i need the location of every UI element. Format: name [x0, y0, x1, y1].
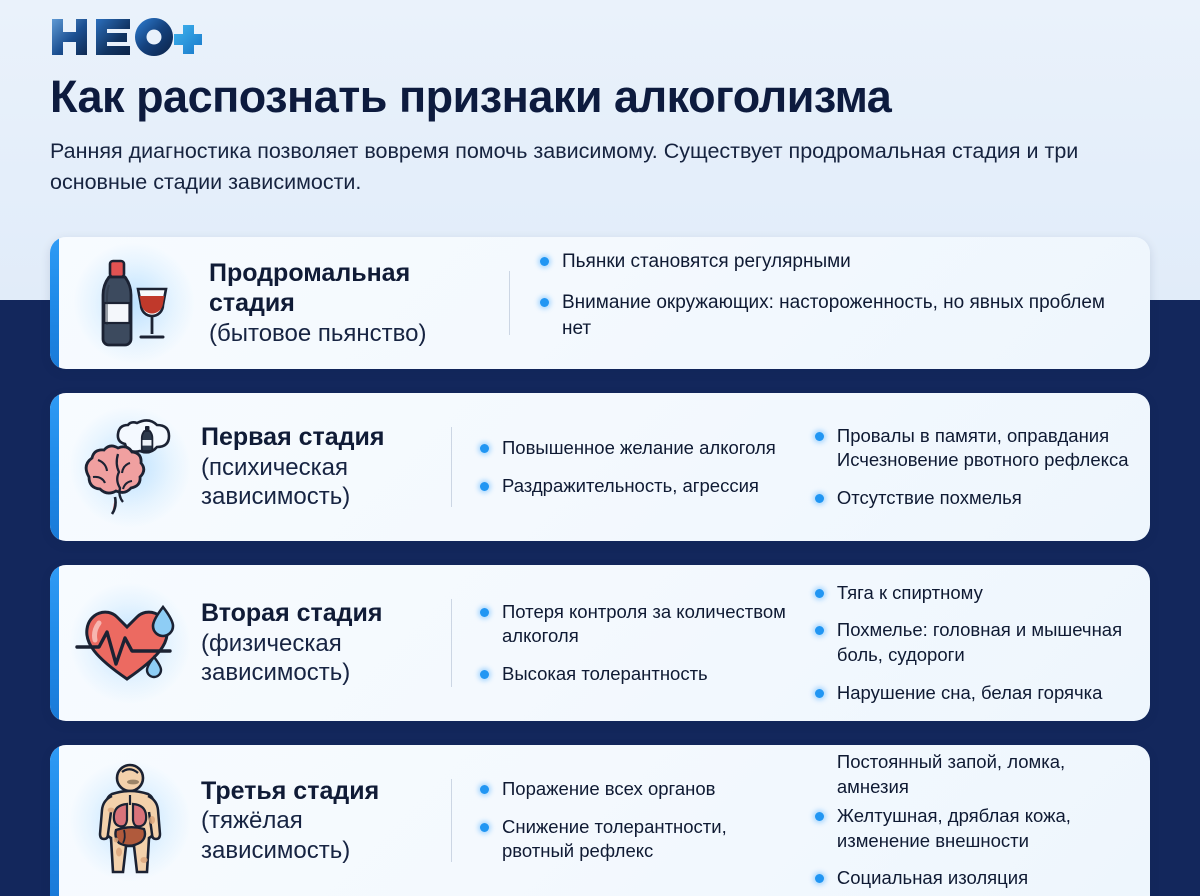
list-item-text: Высокая толерантность	[502, 663, 708, 684]
bullet-dot-icon	[815, 874, 824, 883]
stage-icon-wrapper	[59, 243, 209, 363]
symptom-column-2: Постоянный запой, ломка, амнезия Желтушн…	[815, 750, 1132, 891]
stage-icon-wrapper	[59, 761, 201, 881]
list-item-text: Провалы в памяти, оправдания	[837, 425, 1109, 446]
list-item: Поражение всех органов	[480, 777, 791, 802]
symptom-lists: Пьянки становятся регулярными Внимание о…	[510, 249, 1132, 357]
bullet-dot-icon	[480, 670, 489, 679]
list-item: Внимание окружающих: настороженность, но…	[540, 290, 1132, 341]
bullet-dot-icon	[480, 785, 489, 794]
bullet-dot-icon	[480, 444, 489, 453]
stage-name-block: Первая стадия (психическая зависимость)	[201, 422, 451, 511]
brand-logo[interactable]	[50, 16, 202, 58]
card-accent-bar	[50, 237, 59, 369]
symptom-column-1: Поражение всех органов Снижение толерант…	[480, 777, 791, 864]
bullet-dot-icon	[815, 494, 824, 503]
list-item-text: Исчезновение рвотного рефлекса	[837, 449, 1129, 470]
list-item-text: Пьянки становятся регулярными	[562, 251, 851, 272]
list-item-text: Социальная изоляция	[837, 867, 1028, 888]
list-item-text: Снижение толерантности, рвотный рефлекс	[502, 816, 727, 862]
list-item-text: Раздражительность, агрессия	[502, 475, 759, 496]
card-accent-bar	[50, 745, 59, 896]
list-item-text: Повышенное желание алкоголя	[502, 437, 776, 458]
list-item-text: Отсутствие похмелья	[837, 487, 1022, 508]
stage-subtitle: (тяжёлая зависимость)	[201, 806, 435, 865]
list-item: Нарушение сна, белая горячка	[815, 681, 1132, 706]
stage-card-first[interactable]: Первая стадия (психическая зависимость) …	[50, 393, 1150, 541]
list-item: Исчезновение рвотного рефлекса	[815, 448, 1132, 473]
list-item: Провалы в памяти, оправдания	[815, 424, 1132, 449]
bullet-dot-icon	[480, 608, 489, 617]
list-item: Желтушная, дряблая кожа, изменение внешн…	[815, 804, 1132, 853]
symptom-column-1: Пьянки становятся регулярными Внимание о…	[540, 249, 1132, 357]
stage-title: Первая стадия	[201, 422, 435, 453]
list-item: Повышенное желание алкоголя	[480, 436, 791, 461]
stage-title: Третья стадия	[201, 776, 435, 807]
list-item-text: Нарушение сна, белая горячка	[837, 682, 1103, 703]
bullet-dot-icon	[815, 689, 824, 698]
list-item: Раздражительность, агрессия	[480, 474, 791, 499]
bullet-dot-icon	[815, 589, 824, 598]
list-item: Похмелье: головная и мышечная боль, судо…	[815, 618, 1132, 667]
symptom-lists: Потеря контроля за количеством алкоголя …	[452, 581, 1132, 705]
stage-subtitle: (психическая зависимость)	[201, 453, 435, 512]
list-item-text: Поражение всех органов	[502, 778, 716, 799]
stage-subtitle: (физическая зависимость)	[201, 629, 435, 688]
list-item: Постоянный запой, ломка, амнезия	[815, 750, 1132, 799]
bullet-dot-icon	[815, 432, 824, 441]
list-item: Отсутствие похмелья	[815, 486, 1132, 511]
stage-card-prodromal[interactable]: Продромальная стадия (бытовое пьянство) …	[50, 237, 1150, 369]
symptom-column-2: Тяга к спиртному Похмелье: головная и мы…	[815, 581, 1132, 705]
list-item-text: Похмелье: головная и мышечная боль, судо…	[837, 619, 1122, 665]
list-item-text: Постоянный запой, ломка, амнезия	[837, 751, 1065, 797]
stage-name-block: Третья стадия (тяжёлая зависимость)	[201, 776, 451, 865]
heart-with-pulse-icon	[70, 583, 190, 703]
list-item: Пьянки становятся регулярными	[540, 249, 1132, 274]
stage-icon-wrapper	[59, 583, 201, 703]
card-accent-bar	[50, 565, 59, 721]
stage-subtitle: (бытовое пьянство)	[209, 319, 493, 348]
list-item: Снижение толерантности, рвотный рефлекс	[480, 815, 791, 864]
bullet-dot-icon	[540, 257, 549, 266]
list-item-text: Внимание окружающих: настороженность, но…	[562, 292, 1105, 338]
list-item: Тяга к спиртному	[815, 581, 1132, 606]
list-item-text: Тяга к спиртному	[837, 582, 983, 603]
human-body-organs-icon	[70, 761, 190, 881]
symptom-column-1: Потеря контроля за количеством алкоголя …	[480, 600, 791, 687]
brain-with-bottle-thought-icon	[70, 407, 190, 527]
bullet-dot-icon	[815, 812, 824, 821]
stage-card-third[interactable]: Третья стадия (тяжёлая зависимость) Пора…	[50, 745, 1150, 896]
bullet-dot-icon	[815, 626, 824, 635]
list-item: Потеря контроля за количеством алкоголя	[480, 600, 791, 649]
stage-name-block: Вторая стадия (физическая зависимость)	[201, 598, 451, 687]
list-item: Социальная изоляция	[815, 866, 1132, 891]
symptom-lists: Поражение всех органов Снижение толерант…	[452, 750, 1132, 891]
list-item-text: Желтушная, дряблая кожа, изменение внешн…	[837, 805, 1071, 851]
stage-card-second[interactable]: Вторая стадия (физическая зависимость) П…	[50, 565, 1150, 721]
stage-title: Продромальная стадия	[209, 258, 493, 319]
wine-bottle-and-glass-icon	[74, 243, 194, 363]
list-item: Высокая толерантность	[480, 662, 791, 687]
page-subtitle: Ранняя диагностика позволяет вовремя пом…	[50, 136, 1110, 197]
symptom-column-1: Повышенное желание алкоголя Раздражитель…	[480, 436, 791, 498]
symptom-lists: Повышенное желание алкоголя Раздражитель…	[452, 424, 1132, 511]
stage-title: Вторая стадия	[201, 598, 435, 629]
bullet-dot-icon	[540, 298, 549, 307]
card-accent-bar	[50, 393, 59, 541]
header: Как распознать признаки алкоголизма Ранн…	[50, 72, 1160, 197]
bullet-dot-icon	[480, 482, 489, 491]
page-title: Как распознать признаки алкоголизма	[50, 72, 1160, 122]
bullet-dot-icon	[480, 823, 489, 832]
stage-icon-wrapper	[59, 407, 201, 527]
stage-name-block: Продромальная стадия (бытовое пьянство)	[209, 258, 509, 348]
symptom-column-2: Провалы в памяти, оправдания Исчезновени…	[815, 424, 1132, 511]
list-item-text: Потеря контроля за количеством алкоголя	[502, 601, 786, 647]
